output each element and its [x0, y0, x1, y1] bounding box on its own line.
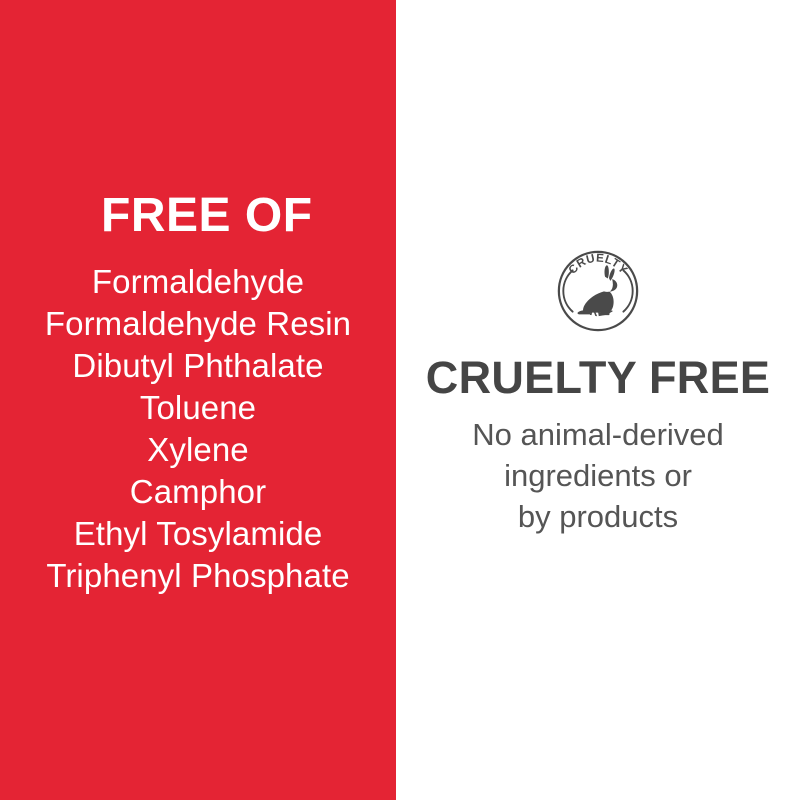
- free-of-panel: FREE OF Formaldehyde Formaldehyde Resin …: [0, 0, 396, 800]
- list-item: Dibutyl Phthalate: [0, 345, 396, 387]
- list-item: Formaldehyde Resin: [0, 303, 396, 345]
- cruelty-free-rabbit-badge-icon: CRUELTY FREE: [555, 248, 641, 334]
- list-item: Ethyl Tosylamide: [0, 513, 396, 555]
- badge-arc-text-top: CRUELTY: [566, 252, 630, 277]
- excluded-ingredient-list: Formaldehyde Formaldehyde Resin Dibutyl …: [0, 261, 396, 597]
- free-of-heading: FREE OF: [0, 190, 396, 242]
- list-item: Triphenyl Phosphate: [0, 555, 396, 597]
- cruelty-free-content: CRUELTY FREE: [396, 248, 800, 537]
- svg-text:CRUELTY: CRUELTY: [566, 252, 630, 277]
- rabbit-silhouette-icon: [578, 265, 618, 315]
- list-item: Toluene: [0, 387, 396, 429]
- description-line: No animal-derived: [396, 414, 800, 455]
- product-claims-infographic: FREE OF Formaldehyde Formaldehyde Resin …: [0, 0, 800, 800]
- list-item: Camphor: [0, 471, 396, 513]
- cruelty-free-description: No animal-derived ingredients or by prod…: [396, 414, 800, 537]
- description-line: by products: [396, 496, 800, 537]
- cruelty-free-heading: CRUELTY FREE: [396, 354, 800, 402]
- description-line: ingredients or: [396, 455, 800, 496]
- cruelty-free-panel: CRUELTY FREE: [396, 0, 800, 800]
- list-item: Xylene: [0, 429, 396, 471]
- list-item: Formaldehyde: [0, 261, 396, 303]
- free-of-content: FREE OF Formaldehyde Formaldehyde Resin …: [0, 190, 396, 597]
